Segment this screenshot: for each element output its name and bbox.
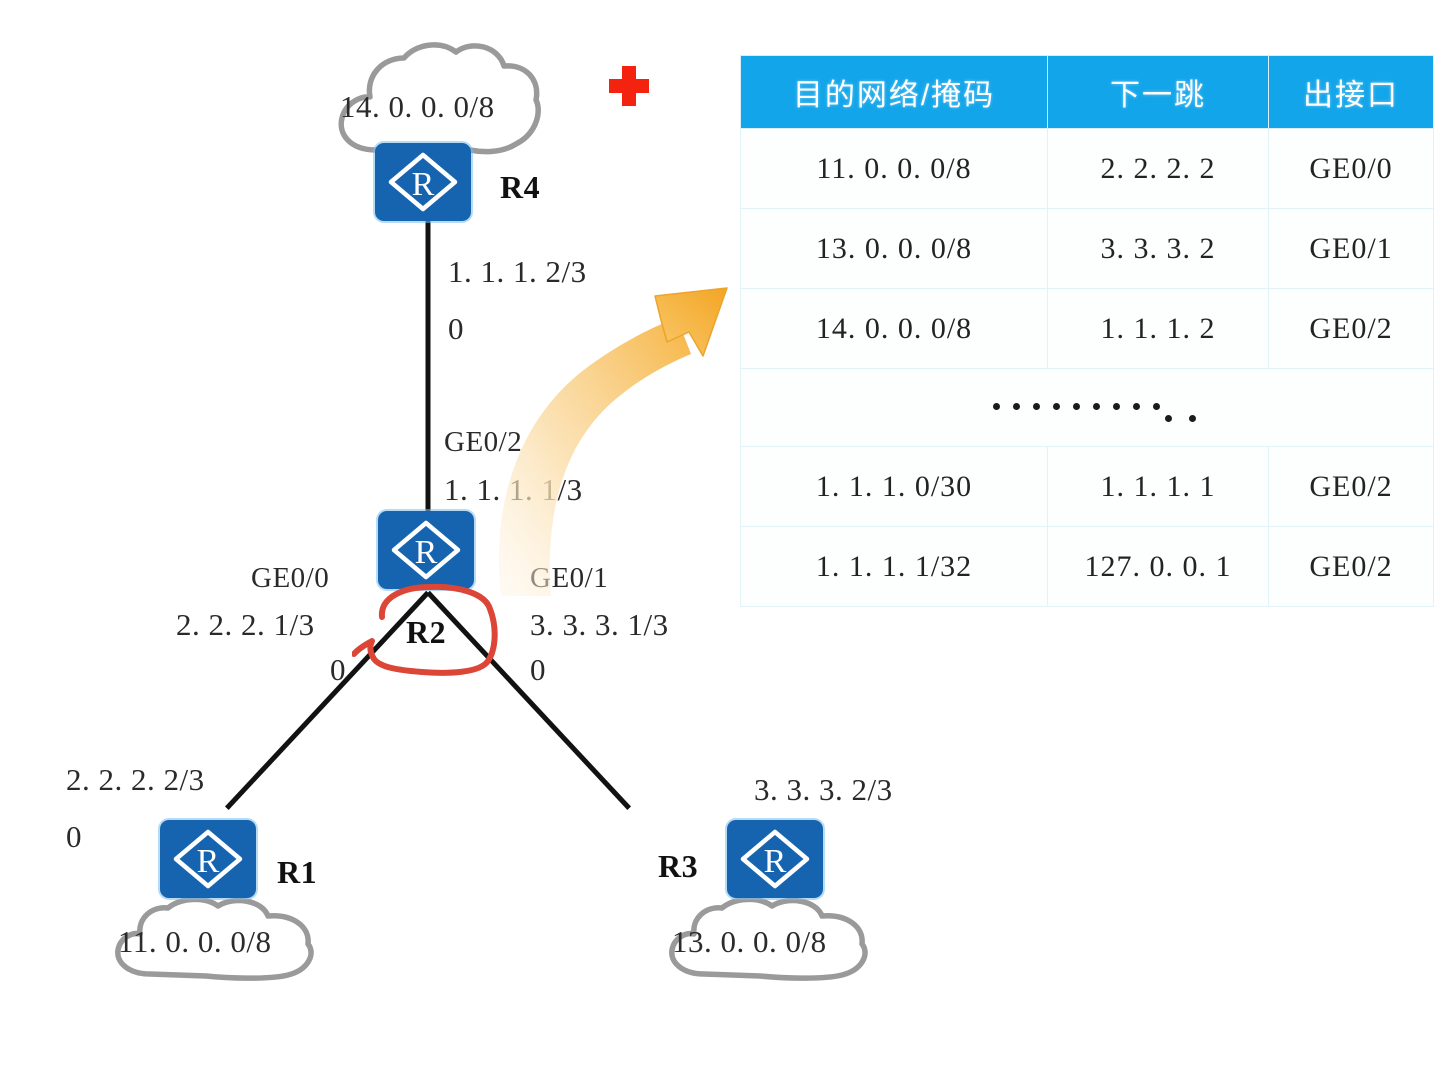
- link-label-r3-ip: 3. 3. 3. 2/3: [754, 770, 893, 810]
- router-label-r3: R3: [658, 846, 698, 887]
- svg-text:R: R: [764, 843, 787, 880]
- router-label-r4: R4: [500, 167, 540, 208]
- interface-label-r2-ge01-ip-line2: 0: [530, 650, 546, 690]
- column-header-destination: 目的网络/掩码: [741, 56, 1048, 129]
- curved-arrow-icon: [455, 270, 755, 605]
- router-icon: R: [160, 820, 256, 898]
- cell-destination: 11. 0. 0. 0/8: [741, 129, 1048, 209]
- cell-next-hop: 1. 1. 1. 2: [1048, 289, 1269, 369]
- table-row: 13. 0. 0. 0/8 3. 3. 3. 2 GE0/1: [741, 209, 1434, 289]
- cell-interface: GE0/2: [1269, 289, 1434, 369]
- svg-text:R: R: [415, 534, 438, 571]
- cell-interface: GE0/0: [1269, 129, 1434, 209]
- cell-next-hop: 1. 1. 1. 1: [1048, 447, 1269, 527]
- diagram-canvas: 14. 0. 0. 0/8 R R4 1. 1. 1. 2/3 0 GE0/2 …: [0, 0, 1440, 1080]
- table-row: 14. 0. 0. 0/8 1. 1. 1. 2 GE0/2: [741, 289, 1434, 369]
- cell-next-hop: 3. 3. 3. 2: [1048, 209, 1269, 289]
- cloud-label-13: 13. 0. 0. 0/8: [672, 922, 827, 962]
- ellipsis-dots: [987, 395, 1187, 425]
- table-row: 11. 0. 0. 0/8 2. 2. 2. 2 GE0/0: [741, 129, 1434, 209]
- routing-table: 目的网络/掩码 下一跳 出接口 11. 0. 0. 0/8 2. 2. 2. 2…: [740, 55, 1434, 607]
- cell-interface: GE0/2: [1269, 447, 1434, 527]
- column-header-next-hop: 下一跳: [1048, 56, 1269, 129]
- table-row: 1. 1. 1. 0/30 1. 1. 1. 1 GE0/2: [741, 447, 1434, 527]
- cell-interface: GE0/1: [1269, 209, 1434, 289]
- interface-label-r2-ge00-ip-line1: 2. 2. 2. 1/3: [176, 605, 315, 645]
- cell-destination: 1. 1. 1. 1/32: [741, 527, 1048, 607]
- interface-label-r2-ge01-ip-line1: 3. 3. 3. 1/3: [530, 605, 669, 645]
- cell-next-hop: 2. 2. 2. 2: [1048, 129, 1269, 209]
- table-header-row: 目的网络/掩码 下一跳 出接口: [741, 56, 1434, 129]
- column-header-interface: 出接口: [1269, 56, 1434, 129]
- svg-text:R: R: [197, 843, 220, 880]
- interface-label-r2-ge00-ip-line2: 0: [330, 650, 346, 690]
- link-r4-r2: [426, 219, 431, 533]
- router-r1[interactable]: R: [160, 820, 256, 898]
- svg-text:R: R: [412, 166, 435, 203]
- router-r4[interactable]: R: [375, 143, 471, 221]
- router-icon: R: [375, 143, 471, 221]
- cell-destination: 14. 0. 0. 0/8: [741, 289, 1048, 369]
- cell-destination: 13. 0. 0. 0/8: [741, 209, 1048, 289]
- cell-destination: 1. 1. 1. 0/30: [741, 447, 1048, 527]
- cloud-label-11: 11. 0. 0. 0/8: [118, 922, 271, 962]
- interface-label-r2-ge00-name: GE0/0: [251, 560, 329, 597]
- link-label-r1-ip-line1: 2. 2. 2. 2/3: [66, 760, 205, 800]
- cloud-label-14: 14. 0. 0. 0/8: [340, 87, 495, 127]
- table-row-ellipsis: [741, 369, 1434, 447]
- table-row: 1. 1. 1. 1/32 127. 0. 0. 1 GE0/2: [741, 527, 1434, 607]
- router-icon: R: [727, 820, 823, 898]
- link-label-r1-ip-line2: 0: [66, 817, 82, 857]
- router-r3[interactable]: R: [727, 820, 823, 898]
- cell-ellipsis: [741, 369, 1434, 447]
- cell-next-hop: 127. 0. 0. 1: [1048, 527, 1269, 607]
- cell-interface: GE0/2: [1269, 527, 1434, 607]
- red-cross-icon: [605, 62, 653, 115]
- router-label-r1: R1: [277, 852, 317, 893]
